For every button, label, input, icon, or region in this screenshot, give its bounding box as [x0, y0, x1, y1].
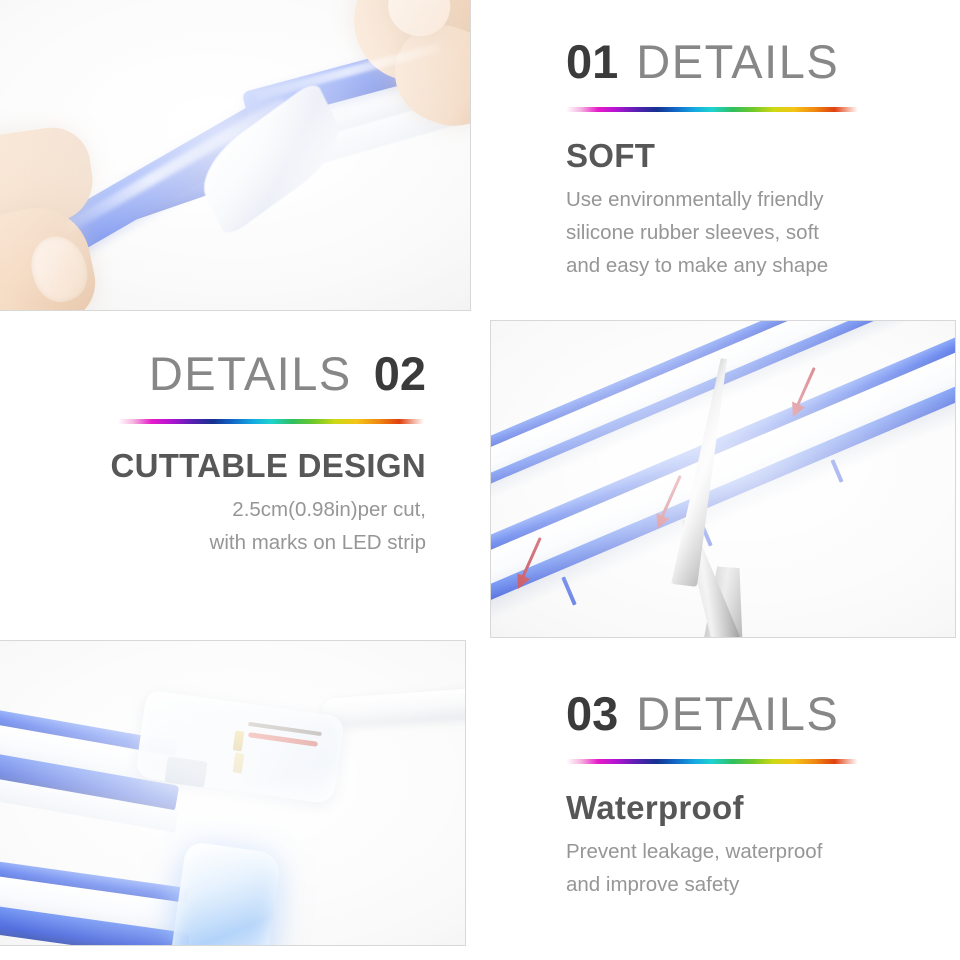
section-cuttable-text: DETAILS 02 CUTTABLE DESIGN 2.5cm(0.98in)…: [0, 350, 426, 600]
section-waterproof-body-line: Prevent leakage, waterproof: [566, 836, 946, 869]
section-cuttable-body-line: with marks on LED strip: [0, 527, 426, 560]
section-cuttable-body: 2.5cm(0.98in)per cut, with marks on LED …: [0, 494, 426, 560]
section-waterproof-details-word: DETAILS: [636, 690, 839, 737]
section-soft-headline: SOFT: [566, 138, 946, 174]
section-waterproof-number: 03: [566, 690, 618, 737]
section-soft-rainbow-divider: [566, 107, 858, 112]
section-soft-text: 01 DETAILS SOFT Use environmentally frie…: [566, 38, 946, 288]
section-soft-body: Use environmentally friendly silicone ru…: [566, 184, 946, 282]
section-soft-number: 01: [566, 38, 618, 85]
connector-notch: [164, 756, 207, 787]
section-soft-body-line: Use environmentally friendly: [566, 184, 946, 217]
section-soft-details-word: DETAILS: [636, 38, 839, 85]
section-waterproof-rainbow-divider: [566, 759, 858, 764]
section-cuttable-number: 02: [374, 350, 426, 397]
section-waterproof-body: Prevent leakage, waterproof and improve …: [566, 836, 946, 902]
section-cuttable-headline: CUTTABLE DESIGN: [0, 448, 426, 484]
section-cuttable-body-line: 2.5cm(0.98in)per cut,: [0, 494, 426, 527]
section-soft-body-line: and easy to make any shape: [566, 250, 946, 283]
section-waterproof-kicker: 03 DETAILS: [566, 690, 946, 737]
section-cuttable-details-word: DETAILS: [149, 350, 352, 397]
photo-waterproof-connector-and-end-cap: [0, 640, 466, 946]
section-cuttable-rainbow-divider: [118, 419, 424, 424]
section-waterproof-text: 03 DETAILS Waterproof Prevent leakage, w…: [566, 690, 946, 910]
infographic-page: 01 DETAILS SOFT Use environmentally frie…: [0, 0, 960, 960]
section-waterproof-body-line: and improve safety: [566, 869, 946, 902]
photo-hand-twisting-silicone-led-strip: [0, 0, 471, 311]
waterproof-end-cap: [170, 841, 281, 946]
section-soft-body-line: silicone rubber sleeves, soft: [566, 217, 946, 250]
photo-scissors-cutting-led-strip: [490, 320, 956, 638]
section-cuttable-kicker: DETAILS 02: [0, 350, 426, 397]
section-waterproof-headline: Waterproof: [566, 790, 946, 826]
section-soft-kicker: 01 DETAILS: [566, 38, 946, 85]
